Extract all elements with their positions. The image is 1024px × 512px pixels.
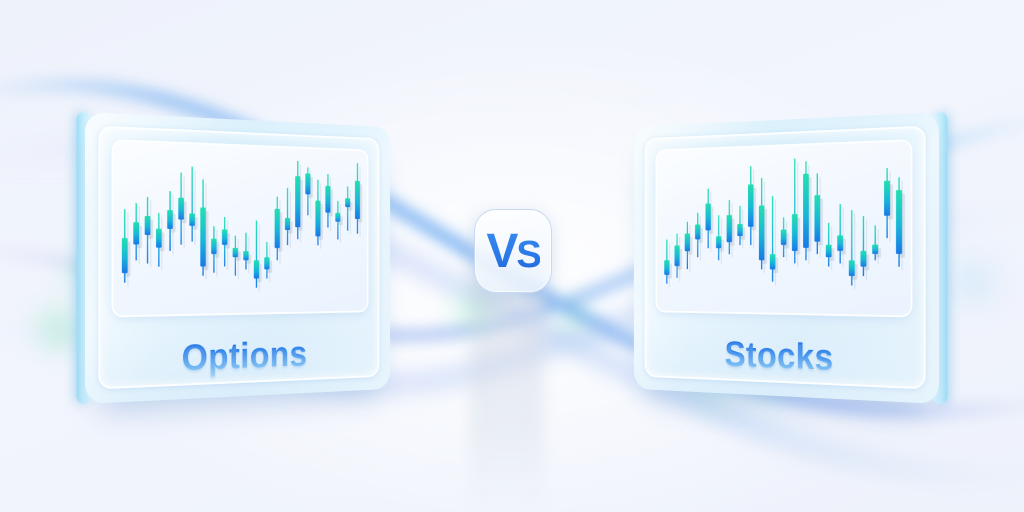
- glow-blob-green-center: [448, 288, 494, 334]
- glow-blob-green-center-2: [552, 300, 592, 340]
- chart-options[interactable]: [113, 141, 366, 315]
- versus-letter-s: S: [516, 234, 539, 276]
- chart-stocks[interactable]: [657, 141, 910, 315]
- candlestick-chart-options: [113, 141, 366, 315]
- glow-blob-blue-right: [944, 252, 1004, 312]
- versus-badge: VS: [474, 209, 552, 293]
- candlestick-chart-stocks: [657, 141, 910, 315]
- panel-stocks[interactable]: Stocks: [634, 112, 939, 404]
- illustration-canvas: Options Stocks VS: [0, 0, 1024, 512]
- versus-letter-v: V: [486, 225, 516, 278]
- panel-options[interactable]: Options: [85, 112, 390, 404]
- versus-label: VS: [486, 224, 539, 279]
